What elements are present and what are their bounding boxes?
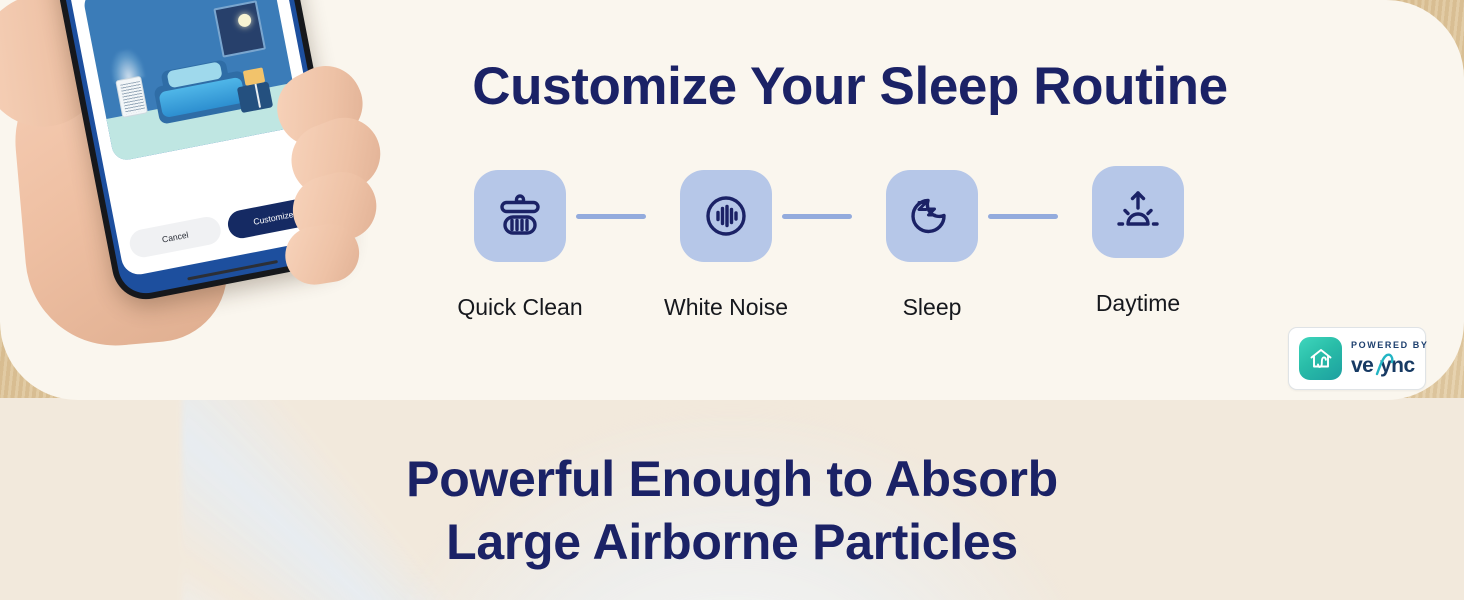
mode-label: Quick Clean	[400, 294, 640, 321]
bottom-headline-line2: Large Airborne Particles	[232, 511, 1232, 574]
mode-label: Sleep	[812, 294, 1052, 321]
powered-by-label: POWERED BY	[1351, 340, 1433, 350]
sound-waves-circle-icon	[700, 190, 752, 242]
bottom-headline-line1: Powerful Enough to Absorb	[232, 448, 1232, 511]
mode-tile	[474, 170, 566, 262]
mode-item-daytime[interactable]: Daytime	[1090, 166, 1186, 258]
connector-line-1	[576, 214, 646, 219]
mode-tile	[680, 170, 772, 262]
mode-label: White Noise	[606, 294, 846, 321]
illustration-air-purifier	[115, 75, 148, 117]
connector-line-2	[782, 214, 852, 219]
bedroom-illustration	[82, 0, 301, 162]
illustration-window	[213, 0, 266, 57]
mode-label: Daytime	[1018, 290, 1258, 317]
moon-icon	[237, 12, 252, 27]
mode-item-sleep[interactable]: Sleep	[884, 170, 980, 262]
mode-tile	[1092, 166, 1184, 258]
sunrise-arrow-icon	[1112, 186, 1164, 238]
brush-icon	[494, 190, 546, 242]
bottom-headline: Powerful Enough to Absorb Large Airborne…	[232, 448, 1232, 574]
cancel-button[interactable]: Cancel	[127, 215, 223, 260]
mode-item-white-noise[interactable]: White Noise	[678, 170, 774, 262]
powered-by-vesync-badge: POWERED BY ve ync	[1288, 327, 1426, 390]
connector-line-3	[988, 214, 1058, 219]
mode-tile	[886, 170, 978, 262]
svg-text:ve: ve	[1351, 354, 1373, 377]
mode-item-quick-clean[interactable]: Quick Clean	[472, 170, 568, 262]
home-indicator	[187, 260, 278, 280]
promo-banner: Customize Your Sleep Routine Quick Clean	[0, 0, 1464, 600]
sleep-mode-list: Quick Clean White Noise	[458, 170, 1198, 270]
vesync-wordmark: ve ync	[1351, 353, 1433, 377]
house-wave-icon	[1307, 345, 1335, 373]
page-title: Customize Your Sleep Routine	[400, 56, 1300, 117]
moon-zzz-icon	[905, 189, 959, 243]
vesync-logo-mark	[1299, 337, 1342, 380]
vesync-text-block: POWERED BY ve ync	[1351, 340, 1433, 377]
illustration-purifier-vents	[120, 81, 145, 114]
